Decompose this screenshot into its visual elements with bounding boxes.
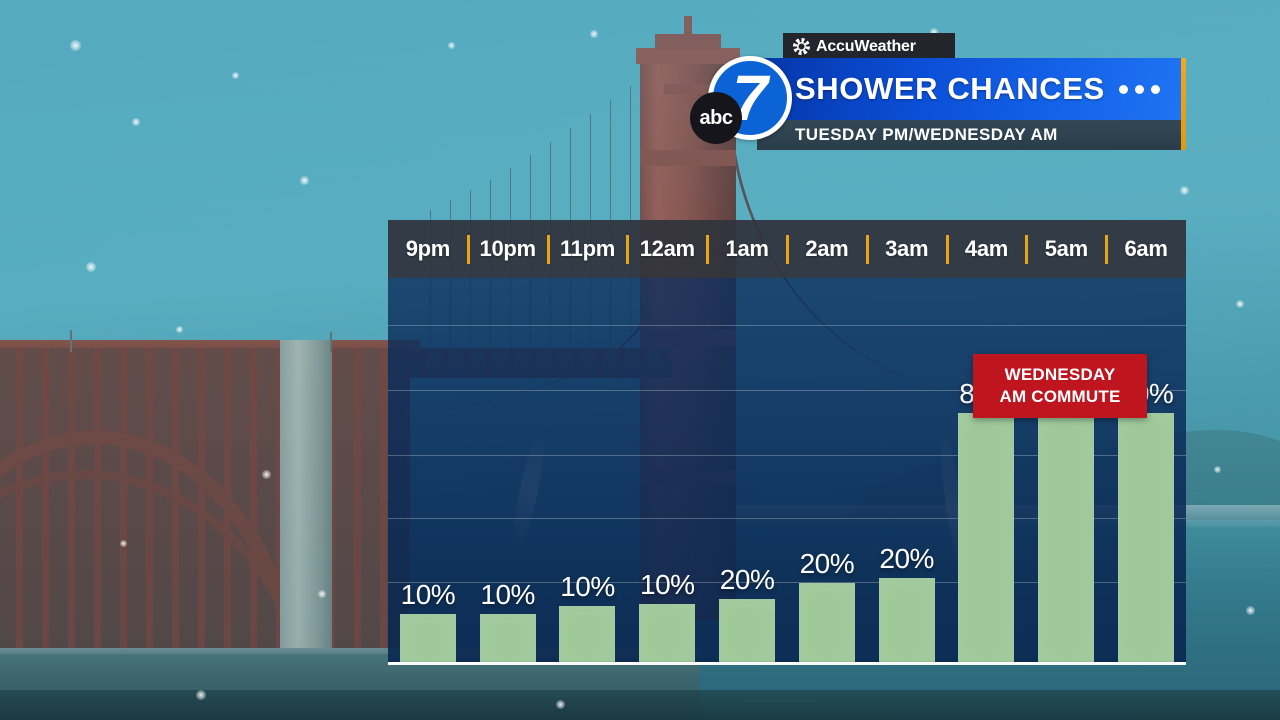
- bar-slot: 10%: [627, 278, 707, 665]
- hour-header-cell: 6am: [1106, 220, 1186, 278]
- rain-droplet: [318, 590, 326, 598]
- bar-slot: 20%: [867, 278, 947, 665]
- rain-droplet: [1214, 466, 1221, 473]
- bar-value-label: 10%: [401, 579, 456, 611]
- rain-droplet: [556, 700, 565, 709]
- banner-accent-bar: [1181, 58, 1186, 150]
- bar-value-label: 10%: [640, 569, 695, 601]
- abc-label: abc: [700, 107, 733, 130]
- rain-droplet: [132, 118, 140, 126]
- rain-droplet: [232, 72, 239, 79]
- rain-droplet: [300, 176, 309, 185]
- hour-header-cell: 3am: [867, 220, 947, 278]
- rain-droplet: [1246, 606, 1255, 615]
- bar-value-label: 20%: [720, 564, 775, 596]
- bar: 80%: [1118, 413, 1174, 665]
- bar-slot: 20%: [787, 278, 867, 665]
- rain-droplet: [1236, 300, 1244, 308]
- bar: 20%: [879, 578, 935, 665]
- bar: 20%: [799, 583, 855, 665]
- wednesday-am-commute-badge: WEDNESDAY AM COMMUTE: [973, 354, 1147, 418]
- bar: 80%: [958, 413, 1014, 665]
- accuweather-label: AccuWeather: [816, 38, 916, 56]
- bar: 10%: [559, 606, 615, 665]
- hour-header-cell: 12am: [627, 220, 707, 278]
- bar-value-label: 10%: [480, 579, 535, 611]
- rain-droplet: [86, 262, 96, 272]
- hour-header-cell: 2am: [787, 220, 867, 278]
- bar-slot: 10%: [548, 278, 628, 665]
- badge-line-1: WEDNESDAY: [1005, 365, 1116, 386]
- bar-slot: 80%: [1026, 278, 1106, 665]
- rain-droplet: [70, 40, 81, 51]
- bar: 80%: [1038, 413, 1094, 665]
- hour-header-cell: 10pm: [468, 220, 548, 278]
- bar: 10%: [480, 614, 536, 665]
- bar-value-label: 20%: [879, 543, 934, 575]
- hour-label: 11pm: [560, 236, 615, 262]
- bar-value-label: 10%: [560, 571, 615, 603]
- bar: 20%: [719, 599, 775, 665]
- page-title: SHOWER CHANCES: [795, 71, 1105, 107]
- bar-slot: 10%: [468, 278, 548, 665]
- hour-header-cell: 4am: [947, 220, 1027, 278]
- bar-slot: 10%: [388, 278, 468, 665]
- chart-plot-area: 10%10%10%10%20%20%20%80%80%80% WEDNESDAY…: [388, 278, 1186, 665]
- banner-subtitle-row: TUESDAY PM/WEDNESDAY AM: [757, 120, 1181, 150]
- bar: 10%: [639, 604, 695, 665]
- abc-circle-icon: abc: [690, 92, 742, 144]
- hour-label: 3am: [885, 236, 928, 262]
- hour-label: 4am: [965, 236, 1008, 262]
- badge-line-2: AM COMMUTE: [1000, 387, 1121, 408]
- hour-label: 5am: [1045, 236, 1088, 262]
- chart-baseline: [388, 662, 1186, 665]
- bar-value-label: 20%: [800, 548, 855, 580]
- hour-label: 9pm: [406, 236, 450, 262]
- hour-header-cell: 9pm: [388, 220, 468, 278]
- rain-droplet: [1180, 186, 1189, 195]
- rain-droplet: [120, 540, 127, 547]
- rain-droplet: [448, 42, 455, 49]
- hour-header-cell: 1am: [707, 220, 787, 278]
- abc7-logo: 7 abc: [690, 54, 786, 150]
- sun-gear-icon: [793, 38, 810, 55]
- bar-slot: 80%: [947, 278, 1027, 665]
- bar-series: 10%10%10%10%20%20%20%80%80%80%: [388, 278, 1186, 665]
- bar: 10%: [400, 614, 456, 665]
- shower-chances-chart: 9pm10pm11pm12am1am2am3am4am5am6am 10%10%…: [388, 220, 1186, 665]
- three-dots-icon: [1119, 85, 1160, 94]
- rain-droplet: [196, 690, 206, 700]
- title-banner: SHOWER CHANCES TUESDAY PM/WEDNESDAY AM: [757, 58, 1186, 150]
- rain-droplet: [176, 326, 183, 333]
- bar-slot: 80%: [1106, 278, 1186, 665]
- hour-label: 2am: [805, 236, 848, 262]
- accuweather-branding: AccuWeather: [783, 33, 955, 60]
- hour-label: 12am: [640, 236, 695, 262]
- bar-slot: 20%: [707, 278, 787, 665]
- page-subtitle: TUESDAY PM/WEDNESDAY AM: [795, 125, 1058, 145]
- hour-axis-header: 9pm10pm11pm12am1am2am3am4am5am6am: [388, 220, 1186, 278]
- hour-label: 6am: [1125, 236, 1168, 262]
- hour-header-cell: 11pm: [548, 220, 628, 278]
- hour-label: 1am: [726, 236, 769, 262]
- rain-droplet: [590, 30, 598, 38]
- banner-title-row: SHOWER CHANCES: [757, 58, 1181, 120]
- rain-droplet: [262, 470, 271, 479]
- hour-label: 10pm: [480, 236, 536, 262]
- hour-header-cell: 5am: [1026, 220, 1106, 278]
